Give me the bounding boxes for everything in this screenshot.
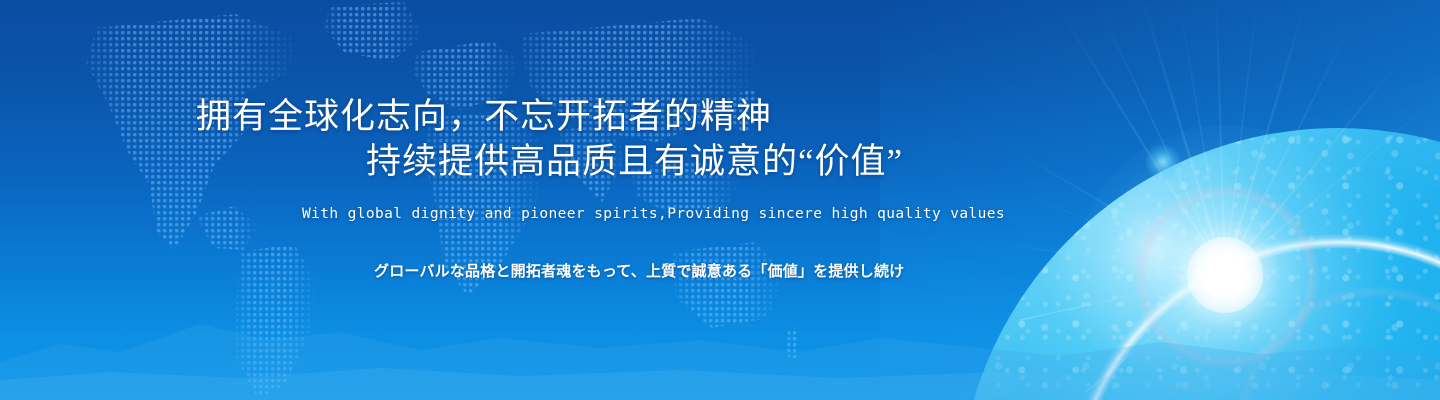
banner-copy: 拥有全球化志向，不忘开拓者的精神 持续提供高品质且有诚意的“价值” With g…	[0, 0, 1440, 400]
headline-line-1: 拥有全球化志向，不忘开拓者的精神	[196, 88, 772, 139]
headline-line-2: 持续提供高品质且有诚意的“价值”	[366, 133, 903, 184]
hero-banner: 拥有全球化志向，不忘开拓者的精神 持续提供高品质且有诚意的“价值” With g…	[0, 0, 1440, 400]
subtitle-japanese: グローバルな品格と開拓者魂をもって、上質で誠意ある「価値」を提供し続け	[374, 260, 904, 281]
subtitle-english: With global dignity and pioneer spirits,…	[302, 206, 1005, 222]
